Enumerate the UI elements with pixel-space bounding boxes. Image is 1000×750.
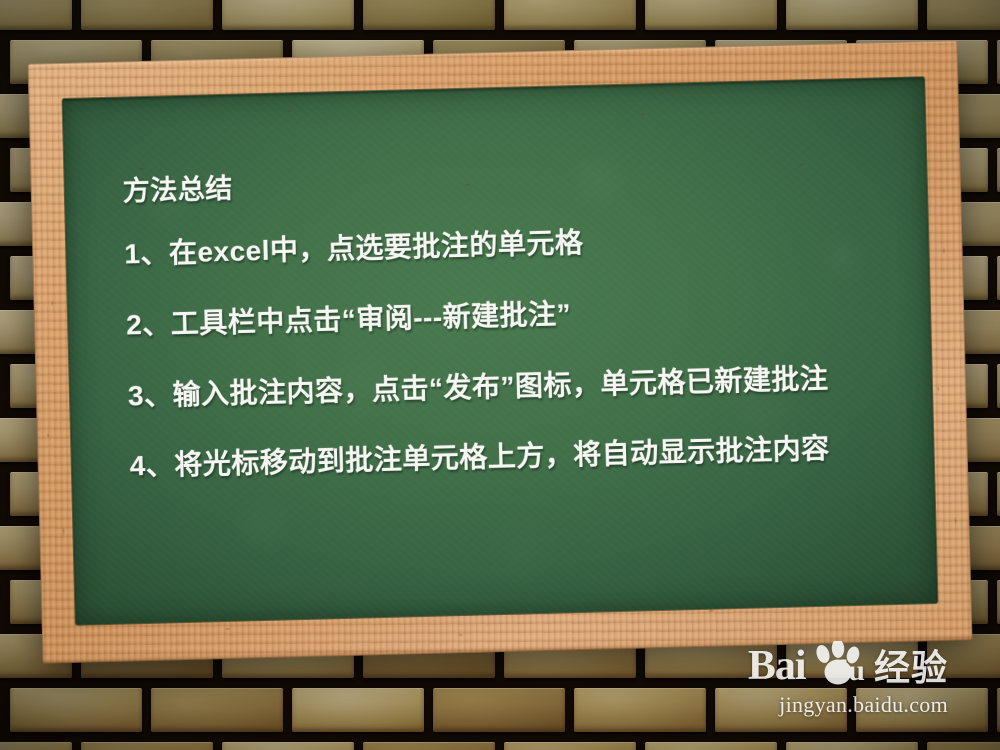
paw-print-icon (807, 641, 865, 687)
brick (927, 742, 1000, 750)
watermark-url: jingyan.baidu.com (748, 692, 948, 718)
brick (10, 688, 142, 732)
watermark-jingyan-text: 经验 (874, 650, 948, 686)
brick-row (0, 0, 1000, 36)
brick (222, 742, 354, 750)
chalkboard-surface: 方法总结 1、在excel中，点选要批注的单元格 2、工具栏中点击“审阅---新… (62, 77, 937, 625)
brick (786, 0, 918, 30)
step-item-1: 1、在excel中，点选要批注的单元格 (124, 218, 911, 271)
brick (786, 742, 918, 750)
brick (433, 688, 565, 732)
brick (222, 0, 354, 30)
watermark-logo-row: Bai du 经验 (748, 641, 948, 687)
brick (81, 742, 213, 750)
brick (504, 742, 636, 750)
brick (0, 742, 72, 750)
brick (574, 688, 706, 732)
step-item-2: 2、工具栏中点击“审阅---新建批注” (126, 289, 913, 342)
chalkboard: 方法总结 1、在excel中，点选要批注的单元格 2、工具栏中点击“审阅---新… (28, 40, 973, 663)
brick (292, 688, 424, 732)
baidu-jingyan-watermark: Bai du 经验 jingyan.baidu.com (748, 641, 948, 718)
brick (645, 0, 777, 30)
brick (504, 0, 636, 30)
page-title: 方法总结 (122, 156, 909, 208)
brick (81, 0, 213, 30)
brick (151, 688, 283, 732)
watermark-bai-text: Bai (748, 647, 806, 687)
brick (363, 742, 495, 750)
brick-row (0, 738, 1000, 750)
brick (0, 0, 72, 30)
chalkboard-wood-frame: 方法总结 1、在excel中，点选要批注的单元格 2、工具栏中点击“审阅---新… (28, 40, 973, 663)
brick (645, 742, 777, 750)
step-item-4: 4、将光标移动到批注单元格上方，将自动显示批注内容 (129, 430, 916, 483)
brick (927, 0, 1000, 30)
slide-canvas: 方法总结 1、在excel中，点选要批注的单元格 2、工具栏中点击“审阅---新… (0, 0, 1000, 750)
brick (363, 0, 495, 30)
slide-text-block: 方法总结 1、在excel中，点选要批注的单元格 2、工具栏中点击“审阅---新… (122, 156, 916, 484)
step-item-3: 3、输入批注内容，点击“发布”图标，单元格已新建批注 (128, 359, 915, 412)
